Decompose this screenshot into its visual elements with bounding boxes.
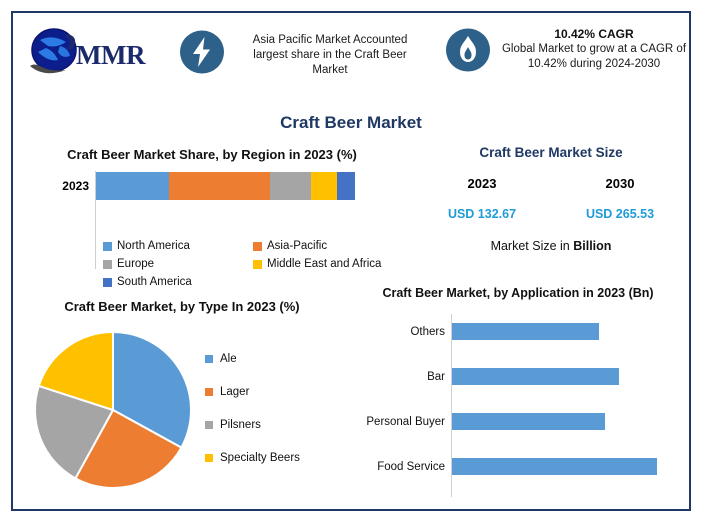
legend-swatch [205, 421, 213, 429]
lightning-bolt-icon [179, 29, 225, 75]
legend-label: Ale [220, 353, 237, 365]
legend-item: Specialty Beers [205, 441, 300, 474]
market-size-panel: Craft Beer Market Size 2023 2030 USD 132… [413, 145, 689, 253]
legend-item: Middle East and Africa [253, 255, 403, 273]
legend-swatch [205, 454, 213, 462]
page-title: Craft Beer Market [13, 113, 689, 133]
bar-row: Bar [347, 359, 689, 404]
fact-asia-pacific: Asia Pacific Market Accounted largest sh… [179, 29, 429, 78]
legend-swatch [103, 278, 112, 287]
infographic-frame: MMR Asia Pacific Market Accounted larges… [11, 11, 691, 511]
bar-row: Food Service [347, 449, 689, 494]
stacked-bar-segment [169, 172, 270, 200]
fact-asia-pacific-text: Asia Pacific Market Accounted largest sh… [235, 33, 425, 78]
header: MMR Asia Pacific Market Accounted larges… [13, 13, 689, 97]
bar-row: Others [347, 314, 689, 359]
stacked-bar-segment [311, 172, 337, 200]
bar-row: Personal Buyer [347, 404, 689, 449]
chart-type-share-title: Craft Beer Market, by Type In 2023 (%) [17, 299, 347, 314]
market-size-value-2030: USD 265.53 [551, 207, 689, 221]
application-bar-rows: OthersBarPersonal BuyerFood Service [347, 314, 689, 494]
chart-region-share: Craft Beer Market Share, by Region in 20… [17, 145, 407, 295]
legend-item: Asia-Pacific [253, 237, 403, 255]
legend-swatch [103, 260, 112, 269]
chart-region-share-legend: North AmericaAsia-PacificEuropeMiddle Ea… [103, 237, 403, 291]
legend-swatch [253, 242, 262, 251]
market-size-value-2023: USD 132.67 [413, 207, 551, 221]
legend-swatch [205, 388, 213, 396]
legend-label: South America [117, 276, 192, 288]
legend-label: North America [117, 240, 190, 252]
bar [452, 458, 657, 475]
legend-swatch [103, 242, 112, 251]
legend-swatch [253, 260, 262, 269]
legend-item: Pilsners [205, 408, 300, 441]
legend-label: Middle East and Africa [267, 258, 381, 270]
legend-label: Asia-Pacific [267, 240, 327, 252]
cagr-heading: 10.42% CAGR [501, 27, 687, 41]
bar-category-label: Others [305, 326, 445, 338]
fact-cagr: 10.42% CAGR Global Market to grow at a C… [445, 27, 690, 73]
bar-category-label: Personal Buyer [305, 416, 445, 428]
category-label: 2023 [27, 179, 89, 193]
legend-item: South America [103, 273, 253, 291]
stacked-bar-segment [96, 172, 169, 200]
chart-application-title: Craft Beer Market, by Application in 202… [347, 285, 689, 302]
legend-label: Specialty Beers [220, 452, 300, 464]
market-size-footer-unit: Billion [573, 239, 611, 253]
market-size-footer: Market Size in Billion [413, 239, 689, 253]
chart-region-share-title: Craft Beer Market Share, by Region in 20… [17, 145, 407, 165]
bar [452, 368, 619, 385]
company-logo: MMR [20, 18, 160, 84]
legend-item: Ale [205, 342, 300, 375]
legend-label: Pilsners [220, 419, 261, 431]
legend-item: Lager [205, 375, 300, 408]
cagr-text: Global Market to grow at a CAGR of 10.42… [501, 42, 687, 72]
stacked-bar-segment [270, 172, 311, 200]
legend-item: Europe [103, 255, 253, 273]
chart-type-share: Craft Beer Market, by Type In 2023 (%) A… [17, 299, 347, 524]
stacked-bar [96, 172, 355, 200]
market-size-year-2030: 2030 [551, 176, 689, 191]
stacked-bar-segment [337, 172, 355, 200]
logo-text: MMR [76, 40, 145, 71]
bar [452, 323, 599, 340]
bar [452, 413, 605, 430]
legend-item: North America [103, 237, 253, 255]
legend-label: Lager [220, 386, 249, 398]
flame-icon [445, 27, 491, 73]
pie-chart [33, 328, 193, 492]
market-size-footer-prefix: Market Size in [491, 239, 574, 253]
market-size-title: Craft Beer Market Size [413, 145, 689, 160]
legend-swatch [205, 355, 213, 363]
legend-label: Europe [117, 258, 154, 270]
chart-application: Craft Beer Market, by Application in 202… [347, 285, 689, 523]
chart-type-share-legend: AleLagerPilsnersSpecialty Beers [205, 342, 300, 474]
bar-category-label: Food Service [305, 461, 445, 473]
bar-category-label: Bar [305, 371, 445, 383]
market-size-year-2023: 2023 [413, 176, 551, 191]
